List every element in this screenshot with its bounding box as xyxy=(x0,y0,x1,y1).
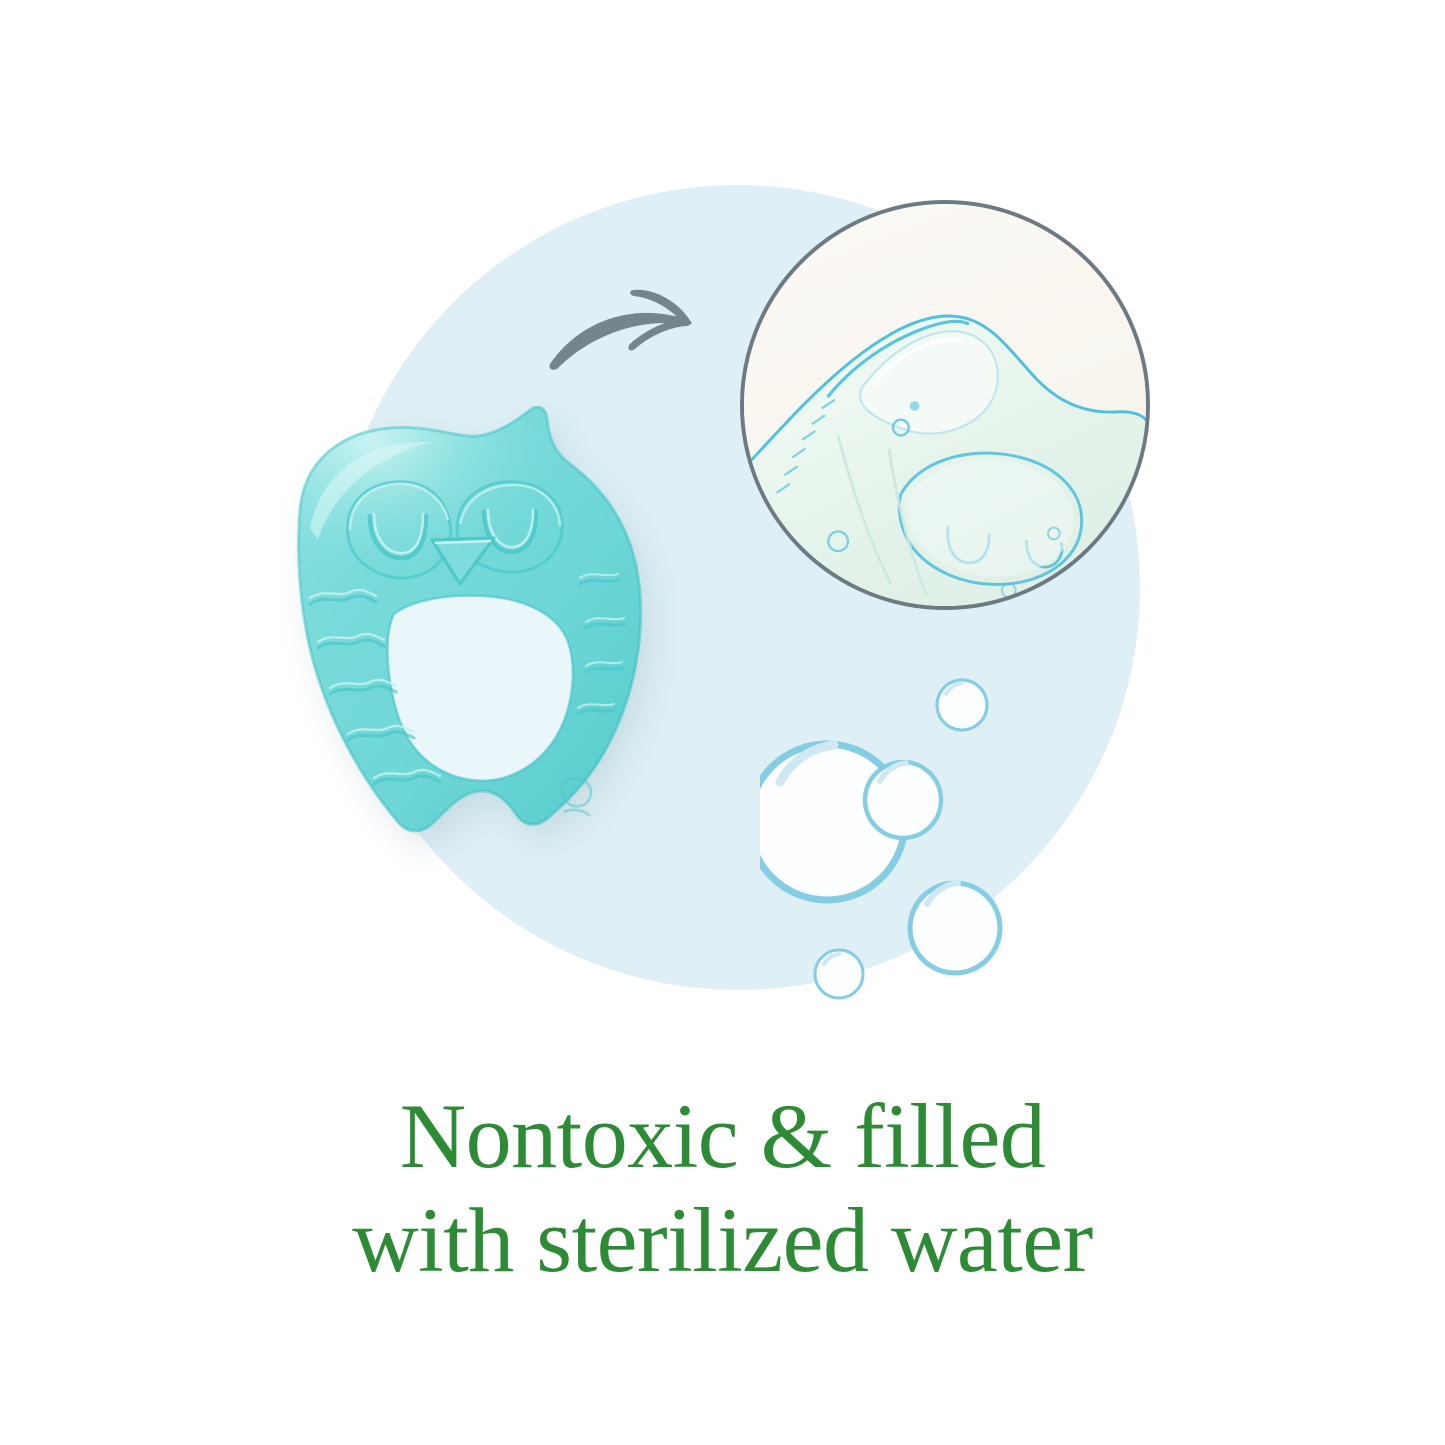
bubble-lower-right xyxy=(910,883,1000,973)
inset-air-bubble xyxy=(910,401,920,411)
feature-caption: Nontoxic & filled with sterilized water xyxy=(0,1085,1445,1293)
magnifier-inset xyxy=(740,200,1150,610)
owl-teether xyxy=(262,388,682,898)
water-bubble-cluster xyxy=(760,650,1060,1000)
curved-pointer-arrow xyxy=(546,272,726,377)
bubble-tiny-bottom xyxy=(815,950,863,998)
caption-line-1: Nontoxic & filled xyxy=(0,1085,1445,1189)
bubble-medium xyxy=(865,762,941,838)
bubble-small-top xyxy=(937,680,987,730)
caption-line-2: with sterilized water xyxy=(0,1189,1445,1293)
product-feature-image: Nontoxic & filled with sterilized water xyxy=(0,0,1445,1445)
